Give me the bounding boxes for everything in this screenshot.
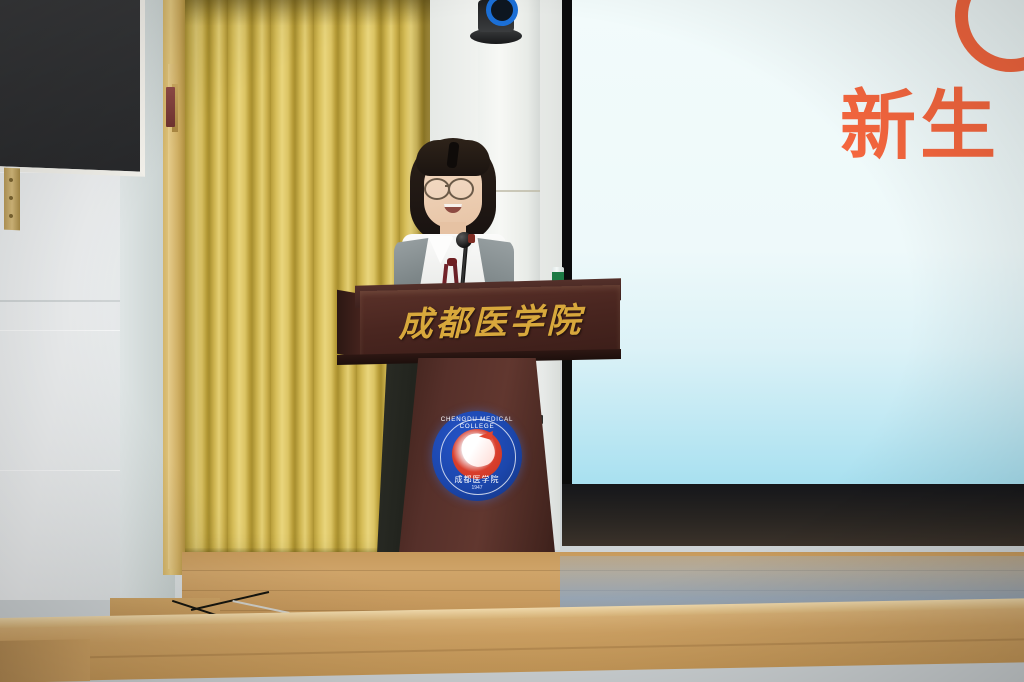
podium-nameplate-text: 成都医学院 [376, 292, 606, 347]
microphone-windscreen [468, 234, 475, 243]
wall-monitor-screen[interactable] [0, 0, 145, 177]
projection-screen-bottom-border [562, 484, 1024, 546]
slide-title-text: 新生 [840, 88, 1000, 164]
emblem-english-text: CHENGDU MEDICAL COLLEGE [432, 416, 522, 430]
projection-screen[interactable] [572, 0, 1024, 484]
glasses-bridge-icon [445, 185, 450, 187]
curtain-top-shadow [185, 0, 445, 26]
speaker-person [388, 138, 518, 300]
stage-apron-left [0, 639, 90, 682]
emblem-chinese-text: 成都医学院 [432, 474, 522, 485]
monitor-bracket-icon [4, 168, 20, 231]
door-frame-inner [168, 64, 178, 569]
glasses-right-lens-icon [448, 178, 474, 200]
door-hinge-icon [166, 87, 175, 127]
emblem-year-text: 1947 [432, 485, 522, 491]
glasses-left-lens-icon [424, 178, 450, 200]
college-emblem: CHENGDU MEDICAL COLLEGE 成都医学院 1947 [432, 411, 522, 501]
auditorium-stage-scene: 新生 成都医学院 CHENGDU MEDIC [0, 0, 1024, 682]
